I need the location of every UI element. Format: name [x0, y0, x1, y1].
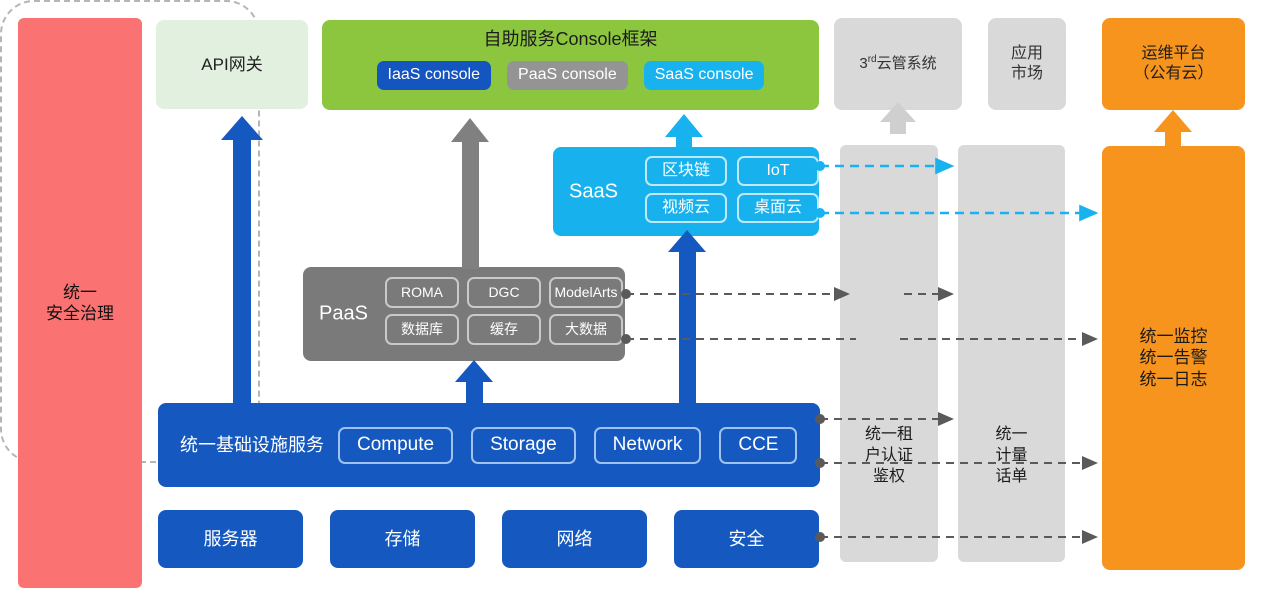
- self-service-console-frame: 自助服务Console框架 IaaS console PaaS console …: [322, 20, 819, 110]
- iaas-console-chip[interactable]: IaaS console: [377, 61, 492, 90]
- third-party-cloud-mgmt-box[interactable]: 3rd云管系统: [834, 18, 962, 110]
- ops-platform-body-panel: 统一监控 统一告警 统一日志: [1102, 146, 1245, 570]
- paas-block: PaaS ROMA DGC ModelArts 数据库 缓存 大数据: [303, 267, 625, 361]
- resource-box-server[interactable]: 服务器: [158, 510, 303, 568]
- ops-platform-header-box[interactable]: 运维平台 （公有云）: [1102, 18, 1245, 110]
- saas-console-chip[interactable]: SaaS console: [644, 61, 765, 90]
- tenant-auth-line-3: 鉴权: [840, 467, 938, 488]
- paas-service-cache[interactable]: 缓存: [467, 314, 541, 345]
- infra-label: 统一基础设施服务: [180, 434, 324, 457]
- resource-label-network: 网络: [557, 528, 593, 551]
- arrow-infra-to-paas: [455, 360, 493, 406]
- ops-body-line-1: 统一监控: [1140, 326, 1208, 347]
- saas-service-video-cloud[interactable]: 视频云: [645, 193, 727, 223]
- tenant-auth-line-2: 户认证: [840, 446, 938, 467]
- saas-service-grid: 区块链 IoT 视频云 桌面云: [645, 156, 819, 223]
- api-gateway-box[interactable]: API网关: [156, 20, 308, 109]
- paas-service-bigdata[interactable]: 大数据: [549, 314, 623, 345]
- metering-line-3: 话单: [958, 467, 1065, 488]
- saas-label: SaaS: [569, 179, 618, 204]
- app-market-box[interactable]: 应用 市场: [988, 18, 1066, 110]
- third-party-ordinal-sup: rd: [868, 54, 877, 65]
- paas-service-modelarts[interactable]: ModelArts: [549, 277, 623, 308]
- arrow-infra-to-saas: [668, 230, 706, 406]
- paas-service-database[interactable]: 数据库: [385, 314, 459, 345]
- resource-label-server: 服务器: [204, 528, 258, 551]
- paas-label: PaaS: [319, 302, 368, 327]
- app-market-line-2: 市场: [1011, 64, 1043, 84]
- security-line-1: 统一: [46, 282, 114, 303]
- infra-chip-row: Compute Storage Network CCE: [338, 427, 797, 464]
- resource-box-network[interactable]: 网络: [502, 510, 647, 568]
- ops-body-line-2: 统一告警: [1140, 347, 1208, 368]
- saas-block: SaaS 区块链 IoT 视频云 桌面云: [553, 147, 819, 236]
- tenant-auth-column: 统一租 户认证 鉴权: [840, 145, 938, 562]
- metering-billing-text: 统一 计量 话单: [958, 425, 1065, 487]
- third-party-prefix: 3: [859, 55, 867, 72]
- ops-body-line-3: 统一日志: [1140, 369, 1208, 390]
- console-chip-row: IaaS console PaaS console SaaS console: [322, 61, 819, 90]
- paas-service-grid: ROMA DGC ModelArts 数据库 缓存 大数据: [385, 277, 623, 345]
- api-gateway-label: API网关: [201, 54, 262, 75]
- arrow-saas-to-saas-console: [665, 114, 703, 148]
- resource-label-security: 安全: [729, 528, 765, 551]
- metering-billing-column: 统一 计量 话单: [958, 145, 1065, 562]
- saas-service-desktop-cloud[interactable]: 桌面云: [737, 193, 819, 223]
- ops-platform-line-2: （公有云）: [1133, 64, 1213, 84]
- app-market-line-1: 应用: [1011, 44, 1043, 64]
- security-line-2: 安全治理: [46, 303, 114, 324]
- paas-service-dgc[interactable]: DGC: [467, 277, 541, 308]
- resource-box-storage[interactable]: 存储: [330, 510, 475, 568]
- arrow-paas-to-console: [451, 118, 489, 269]
- tenant-auth-text: 统一租 户认证 鉴权: [840, 425, 938, 487]
- infra-service-compute[interactable]: Compute: [338, 427, 453, 464]
- saas-service-iot[interactable]: IoT: [737, 156, 819, 186]
- paas-console-chip[interactable]: PaaS console: [507, 61, 628, 90]
- infra-service-cce[interactable]: CCE: [719, 427, 797, 464]
- saas-service-blockchain[interactable]: 区块链: [645, 156, 727, 186]
- unified-infrastructure-bar: 统一基础设施服务 Compute Storage Network CCE: [158, 403, 820, 487]
- paas-service-roma[interactable]: ROMA: [385, 277, 459, 308]
- resource-box-security[interactable]: 安全: [674, 510, 819, 568]
- metering-line-1: 统一: [958, 425, 1065, 446]
- resource-label-storage: 存储: [385, 528, 421, 551]
- metering-line-2: 计量: [958, 446, 1065, 467]
- infra-service-storage[interactable]: Storage: [471, 427, 576, 464]
- infra-service-network[interactable]: Network: [594, 427, 702, 464]
- console-frame-title: 自助服务Console框架: [322, 28, 819, 51]
- tenant-auth-line-1: 统一租: [840, 425, 938, 446]
- security-governance-panel: 统一 安全治理: [18, 18, 142, 588]
- ops-platform-line-1: 运维平台: [1133, 44, 1213, 64]
- arrow-ops-body-to-ops-header: [1154, 110, 1192, 148]
- third-party-label: 云管系统: [877, 55, 937, 72]
